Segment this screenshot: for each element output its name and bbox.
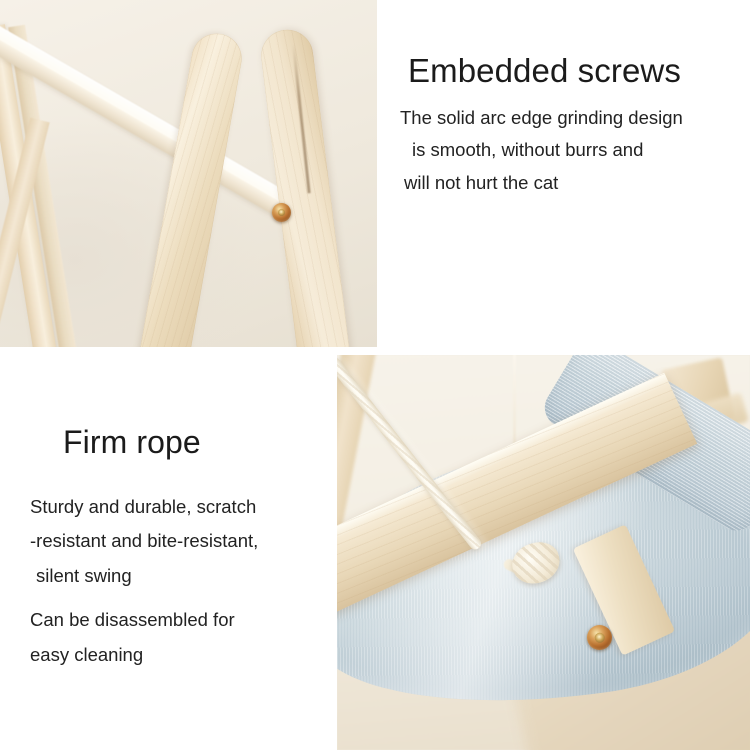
feature-body-embedded-screws: The solid arc edge grinding design is sm… — [400, 109, 745, 193]
photo-wooden-frame-joint — [0, 0, 377, 347]
infographic-canvas: Embedded screws The solid arc edge grind… — [0, 0, 750, 750]
body-line: easy cleaning — [30, 646, 330, 665]
body-line: Can be disassembled for — [30, 611, 330, 630]
body-line: will not hurt the cat — [404, 174, 745, 193]
copper-screw-icon — [272, 203, 291, 222]
copper-screw-icon — [587, 625, 612, 650]
body-line: is smooth, without burrs and — [412, 141, 745, 160]
photo-hammock-rope-detail — [337, 355, 750, 750]
feature-body-firm-rope-paragraph-1: Sturdy and durable, scratch -resistant a… — [30, 498, 330, 586]
screw-head-slot — [594, 632, 605, 643]
body-line: -resistant and bite-resistant, — [30, 532, 330, 551]
screw-head-slot — [278, 209, 286, 217]
body-line: silent swing — [36, 567, 330, 586]
feature-heading-embedded-screws: Embedded screws — [408, 52, 745, 91]
body-line: Sturdy and durable, scratch — [30, 498, 330, 517]
body-line: The solid arc edge grinding design — [400, 109, 745, 128]
feature-block-firm-rope: Firm rope Sturdy and durable, scratch -r… — [30, 424, 330, 680]
feature-body-firm-rope-paragraph-2: Can be disassembled for easy cleaning — [30, 611, 330, 664]
feature-heading-firm-rope: Firm rope — [63, 424, 330, 462]
feature-block-embedded-screws: Embedded screws The solid arc edge grind… — [400, 52, 745, 206]
